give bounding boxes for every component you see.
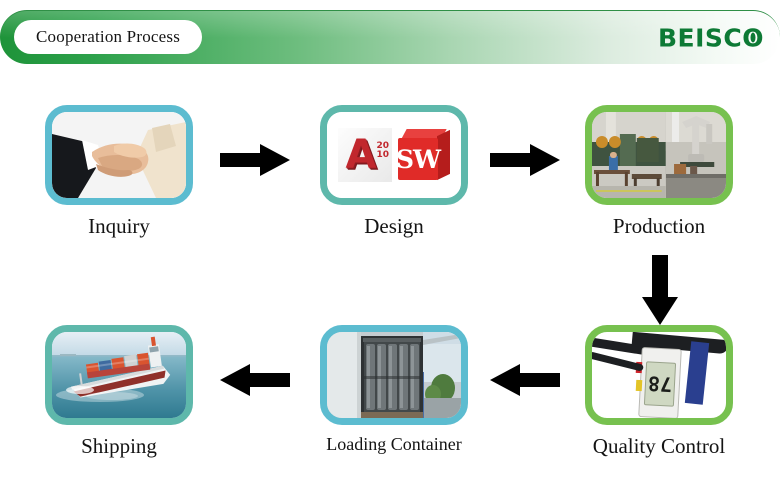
arrow-production-to-quality-control — [641, 255, 679, 330]
step-loading-container[interactable]: Loading Container — [320, 325, 468, 455]
production-label: Production — [585, 214, 733, 239]
loading-container-image — [327, 332, 461, 418]
loaded-container-icon — [327, 332, 461, 418]
arrow-down-icon — [641, 255, 679, 325]
arrow-right-icon — [490, 142, 560, 178]
shipping-label: Shipping — [45, 434, 193, 459]
loading-container-label: Loading Container — [320, 434, 468, 455]
step-shipping[interactable]: Shipping — [45, 325, 193, 459]
autocad-year-bottom: 10 — [376, 150, 389, 160]
brand-logo-o-dot — [751, 33, 756, 43]
arrow-right-icon — [220, 142, 290, 178]
quality-control-image: 78 — [592, 332, 726, 418]
caliper-lcd-screen: 78 — [644, 361, 676, 407]
solidworks-cube-front: SW — [398, 138, 438, 180]
caliper-yellow-button[interactable] — [636, 380, 643, 391]
factory-photo-art — [592, 112, 726, 198]
step-production[interactable]: Production — [585, 105, 733, 239]
inquiry-thumbnail[interactable] — [45, 105, 193, 205]
caliper-photo-art: 78 — [592, 332, 726, 418]
handshake-photo-art — [52, 112, 186, 198]
page-title-pill: Cooperation Process — [14, 20, 202, 54]
container-ship-photo-art — [52, 332, 186, 418]
container-ship-icon — [52, 332, 186, 418]
press-machines-icon — [592, 112, 666, 198]
arrow-design-to-production — [490, 142, 560, 183]
design-label: Design — [320, 214, 468, 239]
container-photo-art — [327, 332, 461, 418]
factory-pane-left — [592, 112, 666, 198]
autocad-version: 20 10 — [376, 142, 389, 160]
solidworks-logo-icon: SW — [398, 129, 450, 181]
autocad-logo-icon: A 20 10 — [338, 128, 392, 182]
quality-control-thumbnail[interactable]: 78 — [585, 325, 733, 425]
step-design[interactable]: A 20 10 SW Design — [320, 105, 468, 239]
shipping-image — [52, 332, 186, 418]
inquiry-label: Inquiry — [45, 214, 193, 239]
shipping-thumbnail[interactable] — [45, 325, 193, 425]
brand-logo-o-icon: O — [742, 25, 764, 50]
arrow-quality-control-to-loading-container — [490, 362, 560, 403]
autocad-letter: A — [346, 135, 377, 175]
design-image: A 20 10 SW — [327, 112, 461, 198]
arrow-inquiry-to-design — [220, 142, 290, 183]
arrow-left-icon — [220, 362, 290, 398]
step-quality-control[interactable]: 78 Quality Control — [585, 325, 733, 459]
brand-logo: BEISCO — [658, 25, 764, 50]
cad-logos-art: A 20 10 SW — [327, 112, 461, 198]
caliper-reading: 78 — [647, 371, 672, 396]
production-image — [592, 112, 726, 198]
arrow-left-icon — [490, 362, 560, 398]
quality-control-label: Quality Control — [585, 434, 733, 459]
handshake-illustration-icon — [52, 112, 186, 198]
handshake-image — [52, 112, 186, 198]
factory-pane-right — [666, 112, 726, 198]
header-banner: Cooperation Process BEISCO — [0, 10, 780, 64]
solidworks-text: SW — [396, 147, 440, 172]
production-thumbnail[interactable] — [585, 105, 733, 205]
page-title: Cooperation Process — [36, 27, 180, 47]
arrow-loading-container-to-shipping — [220, 362, 290, 403]
step-inquiry[interactable]: Inquiry — [45, 105, 193, 239]
loading-container-thumbnail[interactable] — [320, 325, 468, 425]
robot-arm-icon — [666, 112, 726, 198]
brand-logo-text: BEISC — [658, 25, 742, 50]
design-thumbnail[interactable]: A 20 10 SW — [320, 105, 468, 205]
